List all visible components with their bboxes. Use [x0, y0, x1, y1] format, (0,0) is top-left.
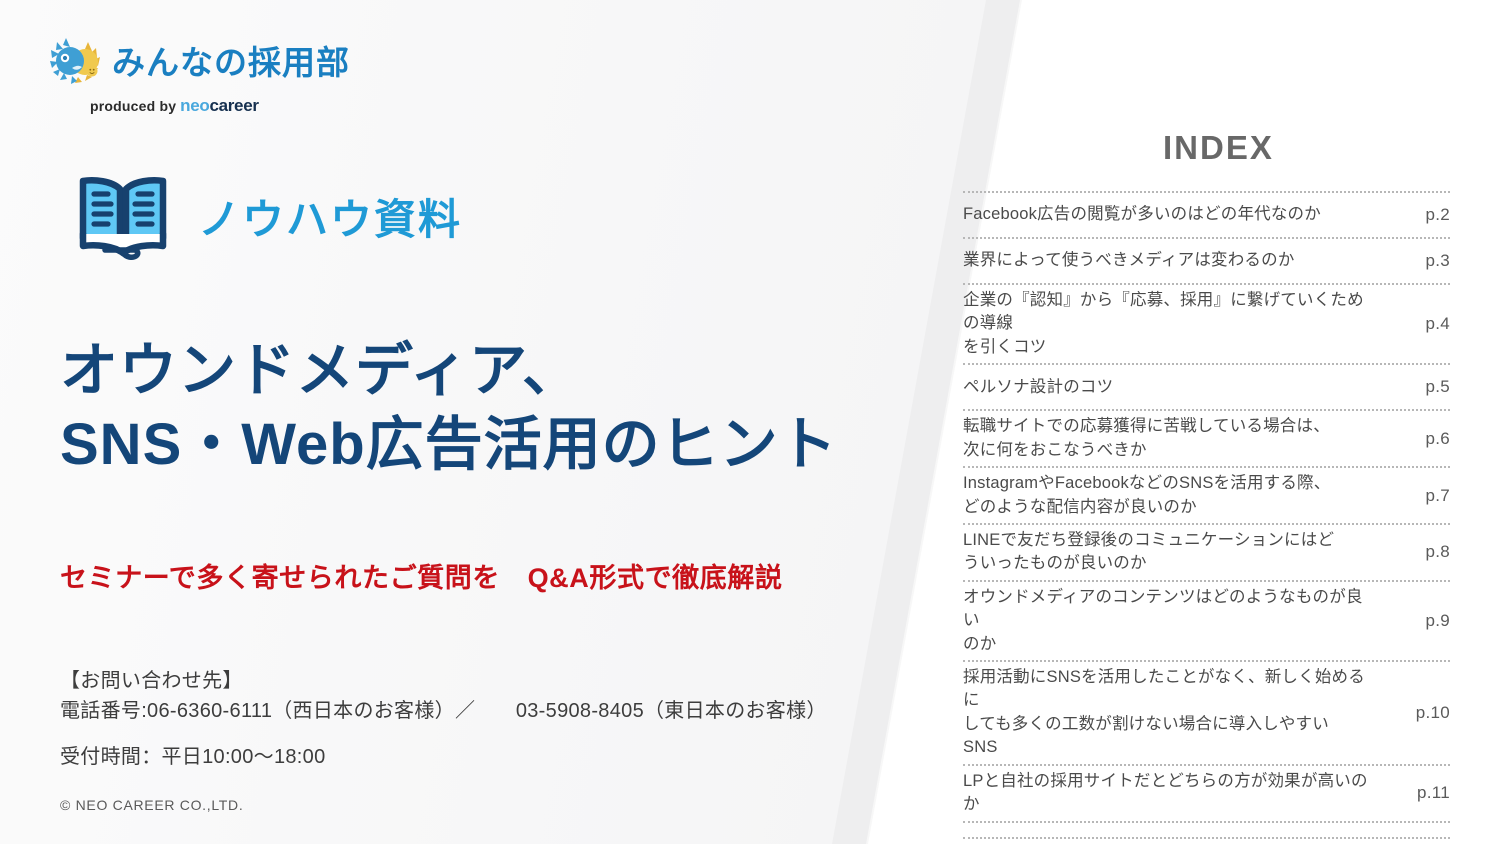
index-row[interactable]: LINEで友だち登録後のコミュニケーションにはど ういったものが良いのかp.8 [963, 523, 1450, 580]
index-entry-page: p.4 [1386, 314, 1450, 334]
sun-globe-logo-icon [48, 34, 104, 90]
index-entry-label: オウンドメディアのコンテンツはどのようなものが良い のか [963, 586, 1386, 656]
index-row[interactable]: InstagramやFacebookなどのSNSを活用する際、 どのような配信内… [963, 466, 1450, 523]
index-entry-label: Facebook広告の閲覧が多いのはどの年代なのか [963, 203, 1386, 226]
index-entry-label: 業界によって使うべきメディアは変わるのか [963, 249, 1386, 272]
logo-row: みんなの採用部 [48, 34, 348, 90]
slide-root: みんなの採用部 produced by neocareer [0, 0, 1500, 844]
document-type-badge: ノウハウ資料 [70, 172, 462, 268]
index-list: Facebook広告の閲覧が多いのはどの年代なのかp.2業界によって使うべきメデ… [963, 191, 1450, 839]
lead-text: セミナーで多く寄せられたご質問を Q&A形式で徹底解説 [60, 556, 783, 595]
index-entry-page: p.5 [1386, 377, 1450, 397]
contact-heading: 【お問い合わせ先】 [60, 666, 827, 696]
index-row[interactable]: 採用活動にSNSを活用したことがなく、新しく始めるに しても多くの工数が割けない… [963, 660, 1450, 764]
index-entry-page: p.6 [1386, 429, 1450, 449]
index-entry-page: p.10 [1386, 703, 1450, 723]
index-entry-label: 採用活動にSNSを活用したことがなく、新しく始めるに しても多くの工数が割けない… [963, 666, 1386, 760]
index-entry-label: 企業の『認知』から『応募、採用』に繋げていくための導線 を引くコツ [963, 289, 1386, 359]
logo-tagline: produced by neocareer [90, 97, 348, 114]
index-row[interactable]: LPと自社の採用サイトだとどちらの方が効果が高いのかp.11 [963, 764, 1450, 821]
index-entry-page: p.11 [1386, 783, 1450, 803]
index-row[interactable]: 企業の『認知』から『応募、採用』に繋げていくための導線 を引くコツp.4 [963, 283, 1450, 363]
contact-hours: 受付時間：平日10:00〜18:00 [60, 742, 827, 772]
index-row[interactable]: 業界によって使うべきメディアは変わるのかp.3 [963, 237, 1450, 283]
brand-career-text: career [209, 96, 258, 115]
contact-telephone: 電話番号:06-6360-6111（西日本のお客様）／ 03-5908-8405… [60, 696, 827, 726]
copyright-notice: © NEO CAREER CO.,LTD. [60, 797, 243, 813]
index-row[interactable]: Facebook広告の閲覧が多いのはどの年代なのかp.2 [963, 191, 1450, 237]
open-book-icon [70, 172, 176, 268]
index-entry-label: LINEで友だち登録後のコミュニケーションにはど ういったものが良いのか [963, 529, 1386, 576]
index-entry-label: InstagramやFacebookなどのSNSを活用する際、 どのような配信内… [963, 472, 1386, 519]
index-heading: INDEX [1163, 131, 1274, 164]
index-list-end-rule [963, 821, 1450, 839]
index-entry-page: p.8 [1386, 542, 1450, 562]
badge-label: ノウハウ資料 [198, 199, 462, 241]
index-entry-page: p.7 [1386, 486, 1450, 506]
produced-by-text: produced by [90, 98, 176, 114]
index-row[interactable]: 転職サイトでの応募獲得に苦戦している場合は、 次に何をおこなうべきかp.6 [963, 409, 1450, 466]
index-entry-label: LPと自社の採用サイトだとどちらの方が効果が高いのか [963, 770, 1386, 817]
index-entry-page: p.2 [1386, 205, 1450, 225]
brand-neo-text: neo [180, 96, 209, 115]
contact-block: 【お問い合わせ先】 電話番号:06-6360-6111（西日本のお客様）／ 03… [60, 666, 827, 772]
index-entry-page: p.3 [1386, 251, 1450, 271]
index-entry-label: 転職サイトでの応募獲得に苦戦している場合は、 次に何をおこなうべきか [963, 415, 1386, 462]
brand-logo: みんなの採用部 produced by neocareer [48, 34, 348, 114]
index-row[interactable]: ペルソナ設計のコツp.5 [963, 363, 1450, 409]
index-row[interactable]: オウンドメディアのコンテンツはどのようなものが良い のかp.9 [963, 580, 1450, 660]
index-entry-page: p.9 [1386, 611, 1450, 631]
page-title: オウンドメディア、 SNS・Web広告活用のヒント [60, 334, 838, 481]
index-entry-label: ペルソナ設計のコツ [963, 376, 1386, 399]
logo-wordmark: みんなの採用部 [112, 46, 350, 79]
